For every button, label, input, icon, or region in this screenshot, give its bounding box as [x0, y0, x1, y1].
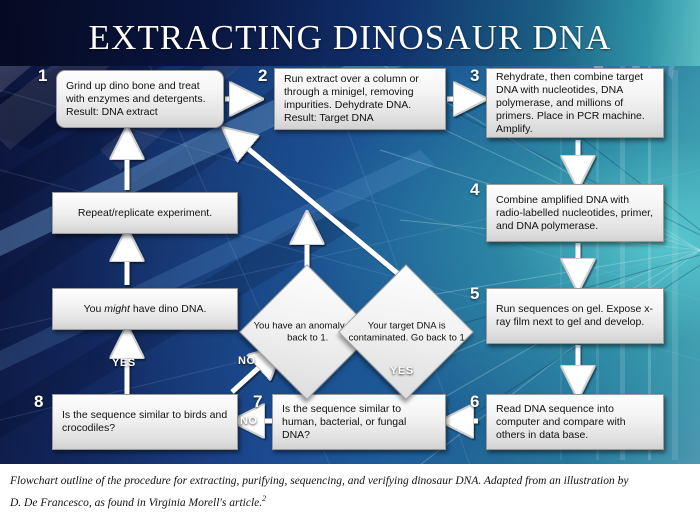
edge-label-no-bottom: NO — [240, 415, 258, 427]
outcome-box-repeat[interactable]: Repeat/replicate experiment. — [52, 192, 238, 234]
step-box-3[interactable]: Rehydrate, then combine target DNA with … — [486, 68, 664, 138]
step-box-5-text: Run sequences on gel. Expose x-ray film … — [496, 303, 654, 329]
step-box-8-text: Is the sequence similar to birds and cro… — [62, 409, 228, 435]
edge-label-yes-right: YES — [390, 365, 414, 377]
step-number-2: 2 — [258, 66, 267, 86]
step-number-6: 6 — [470, 392, 479, 412]
step-box-7[interactable]: Is the sequence similar to human, bacter… — [272, 394, 446, 450]
edge-label-yes-left: YES — [112, 357, 136, 369]
edge-label-no-left: NO — [238, 355, 256, 367]
caption-line-2: D. De Francesco, as found in Virginia Mo… — [10, 490, 690, 512]
step-box-2[interactable]: Run extract over a column or through a m… — [274, 68, 446, 130]
step-box-3-text: Rehydrate, then combine target DNA with … — [496, 71, 654, 136]
step-number-8: 8 — [34, 392, 43, 412]
caption-line-2-text: D. De Francesco, as found in Virginia Mo… — [10, 497, 262, 509]
step-box-6-text: Read DNA sequence into computer and comp… — [496, 403, 654, 442]
decision-contaminated-text: Your target DNA is contaminated. Go back… — [345, 321, 469, 345]
step-box-5[interactable]: Run sequences on gel. Expose x-ray film … — [486, 288, 664, 344]
might-prefix: You — [84, 303, 105, 315]
step-number-7: 7 — [253, 392, 262, 412]
caption-footnote-marker: 2 — [262, 494, 266, 503]
step-number-1: 1 — [38, 66, 47, 86]
step-number-4: 4 — [470, 180, 479, 200]
might-suffix: have dino DNA. — [130, 303, 206, 315]
step-box-1-text: Grind up dino bone and treat with enzyme… — [66, 80, 214, 119]
flowchart-page: EXTRACTING DINOSAUR DNA — [0, 0, 700, 520]
step-box-1[interactable]: Grind up dino bone and treat with enzyme… — [56, 70, 224, 128]
outcome-might-text: You might have dino DNA. — [62, 303, 228, 316]
figure-caption: Flowchart outline of the procedure for e… — [10, 473, 690, 512]
step-box-4[interactable]: Combine amplified DNA with radio-labelle… — [486, 184, 664, 242]
step-box-2-text: Run extract over a column or through a m… — [284, 73, 436, 125]
caption-line-1: Flowchart outline of the procedure for e… — [10, 473, 690, 490]
step-number-3: 3 — [470, 66, 479, 86]
step-box-7-text: Is the sequence similar to human, bacter… — [282, 403, 436, 442]
step-box-4-text: Combine amplified DNA with radio-labelle… — [496, 194, 654, 233]
page-title: EXTRACTING DINOSAUR DNA — [0, 18, 700, 58]
outcome-box-might-have-dna[interactable]: You might have dino DNA. — [52, 288, 238, 330]
step-box-6[interactable]: Read DNA sequence into computer and comp… — [486, 394, 664, 450]
might-emphasis: might — [104, 303, 130, 315]
outcome-repeat-text: Repeat/replicate experiment. — [62, 207, 228, 220]
step-box-8[interactable]: Is the sequence similar to birds and cro… — [52, 394, 238, 450]
step-number-5: 5 — [470, 284, 479, 304]
